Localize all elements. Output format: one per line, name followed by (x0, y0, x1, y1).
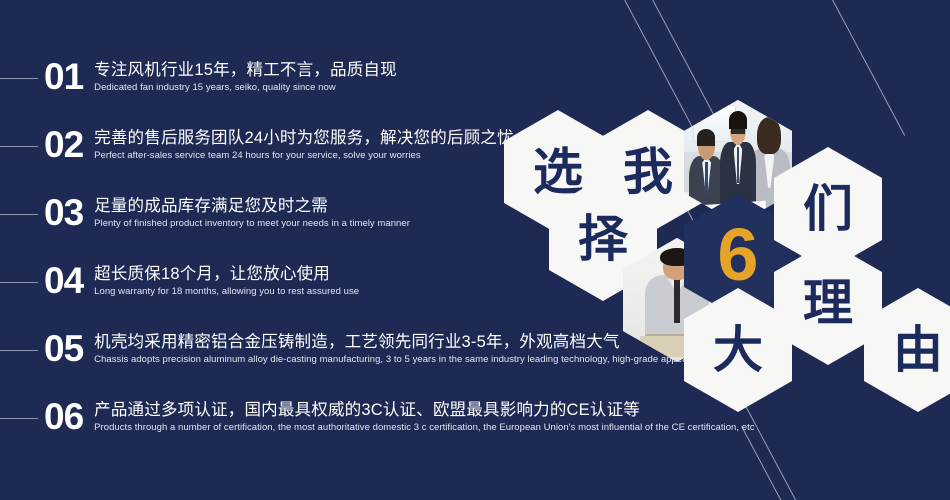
reason-rule (0, 350, 38, 351)
reason-rule (0, 214, 38, 215)
reason-title-en: Long warranty for 18 months, allowing yo… (94, 286, 359, 298)
team-person-center-tie (737, 147, 740, 183)
reason-text-block: 完善的售后服务团队24小时为您服务，解决您的后顾之忧 Perfect after… (94, 128, 514, 162)
reason-title-en: Perfect after-sales service team 24 hour… (94, 150, 514, 162)
reason-item-3: 03 足量的成品库存满足您及时之需 Plenty of finished pro… (0, 190, 410, 236)
reason-title-en: Products through a number of certificati… (94, 422, 754, 434)
laptop-man-tie (674, 279, 680, 323)
hex-glyph: 我 (623, 147, 673, 197)
hex-glyph: 大 (713, 325, 763, 375)
hex-glyph: 由 (893, 325, 943, 375)
reason-item-2: 02 完善的售后服务团队24小时为您服务，解决您的后顾之忧 Perfect af… (0, 122, 514, 168)
reason-rule (0, 418, 38, 419)
team-person-center-hair (729, 111, 747, 129)
reason-title-cn: 专注风机行业15年，精工不言，品质自现 (94, 60, 397, 81)
reason-text-block: 足量的成品库存满足您及时之需 Plenty of finished produc… (94, 196, 410, 230)
team-person-right-hair (757, 117, 781, 153)
reason-item-4: 04 超长质保18个月，让您放心使用 Long warranty for 18 … (0, 258, 359, 304)
reason-number: 06 (44, 398, 83, 435)
reason-number: 01 (44, 58, 83, 95)
reason-number: 04 (44, 262, 83, 299)
reason-text-block: 专注风机行业15年，精工不言，品质自现 Dedicated fan indust… (94, 60, 397, 94)
reason-text-block: 超长质保18个月，让您放心使用 Long warranty for 18 mon… (94, 264, 359, 298)
reason-number: 05 (44, 330, 83, 367)
hex-glyph: 理 (803, 278, 853, 328)
reason-title-cn: 超长质保18个月，让您放心使用 (94, 264, 359, 285)
reason-rule (0, 78, 38, 79)
hex-glyph-count: 6 (717, 218, 758, 292)
reason-title-cn: 足量的成品库存满足您及时之需 (94, 196, 410, 217)
reason-item-6: 06 产品通过多项认证，国内最具权威的3C认证、欧盟最具影响力的CE认证等 Pr… (0, 394, 755, 440)
reason-title-en: Plenty of finished product inventory to … (94, 218, 410, 230)
reason-item-1: 01 专注风机行业15年，精工不言，品质自现 Dedicated fan ind… (0, 54, 397, 100)
reason-text-block: 产品通过多项认证，国内最具权威的3C认证、欧盟最具影响力的CE认证等 Produ… (94, 400, 754, 434)
promo-banner: 01 专注风机行业15年，精工不言，品质自现 Dedicated fan ind… (0, 0, 950, 500)
team-person-left-tie (705, 162, 708, 193)
reason-number: 02 (44, 126, 83, 163)
reason-title-en: Dedicated fan industry 15 years, seiko, … (94, 82, 397, 94)
reason-title-cn: 产品通过多项认证，国内最具权威的3C认证、欧盟最具影响力的CE认证等 (94, 400, 754, 421)
reason-title-cn: 完善的售后服务团队24小时为您服务，解决您的后顾之忧 (94, 128, 514, 149)
hex-glyph: 们 (803, 184, 853, 234)
reason-rule (0, 146, 38, 147)
hex-glyph: 择 (578, 214, 628, 264)
reason-title-en: Chassis adopts precision aluminum alloy … (94, 354, 765, 366)
reason-rule (0, 282, 38, 283)
reason-number: 03 (44, 194, 83, 231)
team-person-left-hair (697, 129, 715, 146)
diagonal-line-3 (829, 0, 905, 136)
hex-glyph: 选 (533, 147, 583, 197)
